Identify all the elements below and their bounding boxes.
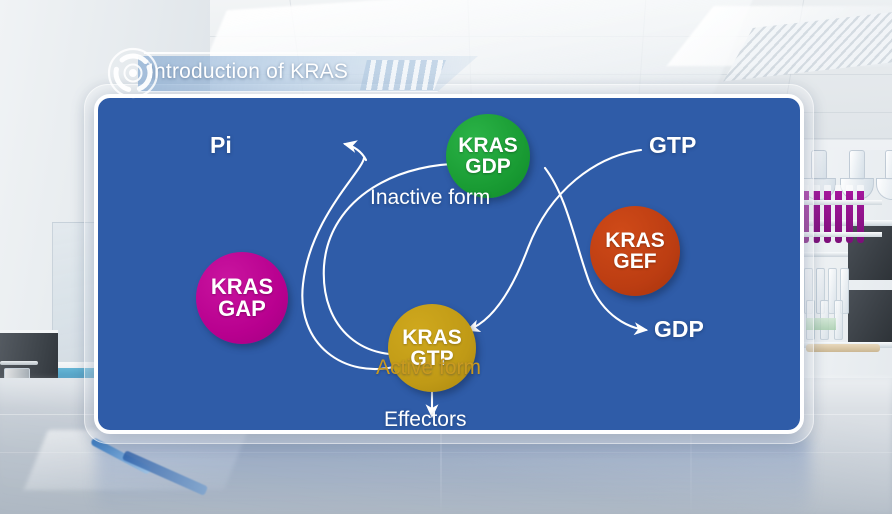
- label-gtp: GTP: [649, 132, 696, 159]
- label-inactive-form: Inactive form: [370, 186, 490, 210]
- node-kras-gef-line2: GEF: [613, 251, 656, 272]
- titlebar-stripe-decoration: [360, 60, 446, 90]
- label-pi: Pi: [210, 132, 232, 159]
- arrow-to-pi: [345, 144, 366, 160]
- circular-swirl-logo-icon: [106, 46, 160, 100]
- wood-shelf-top: [806, 344, 880, 352]
- titlebar-hairline: [144, 52, 356, 54]
- node-kras-gdp-line1: KRAS: [458, 135, 518, 156]
- node-kras-gdp-line2: GDP: [465, 156, 511, 177]
- node-kras-gef[interactable]: KRAS GEF: [590, 206, 680, 296]
- label-effectors: Effectors: [384, 408, 466, 432]
- node-kras-gap[interactable]: KRAS GAP: [196, 252, 288, 344]
- label-active-form: Active form: [376, 356, 481, 380]
- label-gdp: GDP: [654, 316, 704, 343]
- cabinet-handle: [0, 361, 38, 365]
- titlebar: Introduction of KRAS: [108, 50, 478, 92]
- shelf-dark-recess: [848, 290, 892, 342]
- node-kras-gtp-line1: KRAS: [402, 327, 462, 348]
- node-kras-gap-line2: GAP: [218, 298, 266, 320]
- panel-floor-reflection: [96, 438, 810, 514]
- node-kras-gef-line1: KRAS: [605, 230, 665, 251]
- node-kras-gap-line1: KRAS: [211, 276, 273, 298]
- hanging-flask: [876, 150, 892, 218]
- page-title: Introduction of KRAS: [148, 60, 348, 84]
- kras-cycle-diagram: KRAS GDP KRAS GAP KRAS GEF KRAS GTP Pi G…: [98, 98, 800, 430]
- content-panel: KRAS GDP KRAS GAP KRAS GEF KRAS GTP Pi G…: [94, 94, 804, 434]
